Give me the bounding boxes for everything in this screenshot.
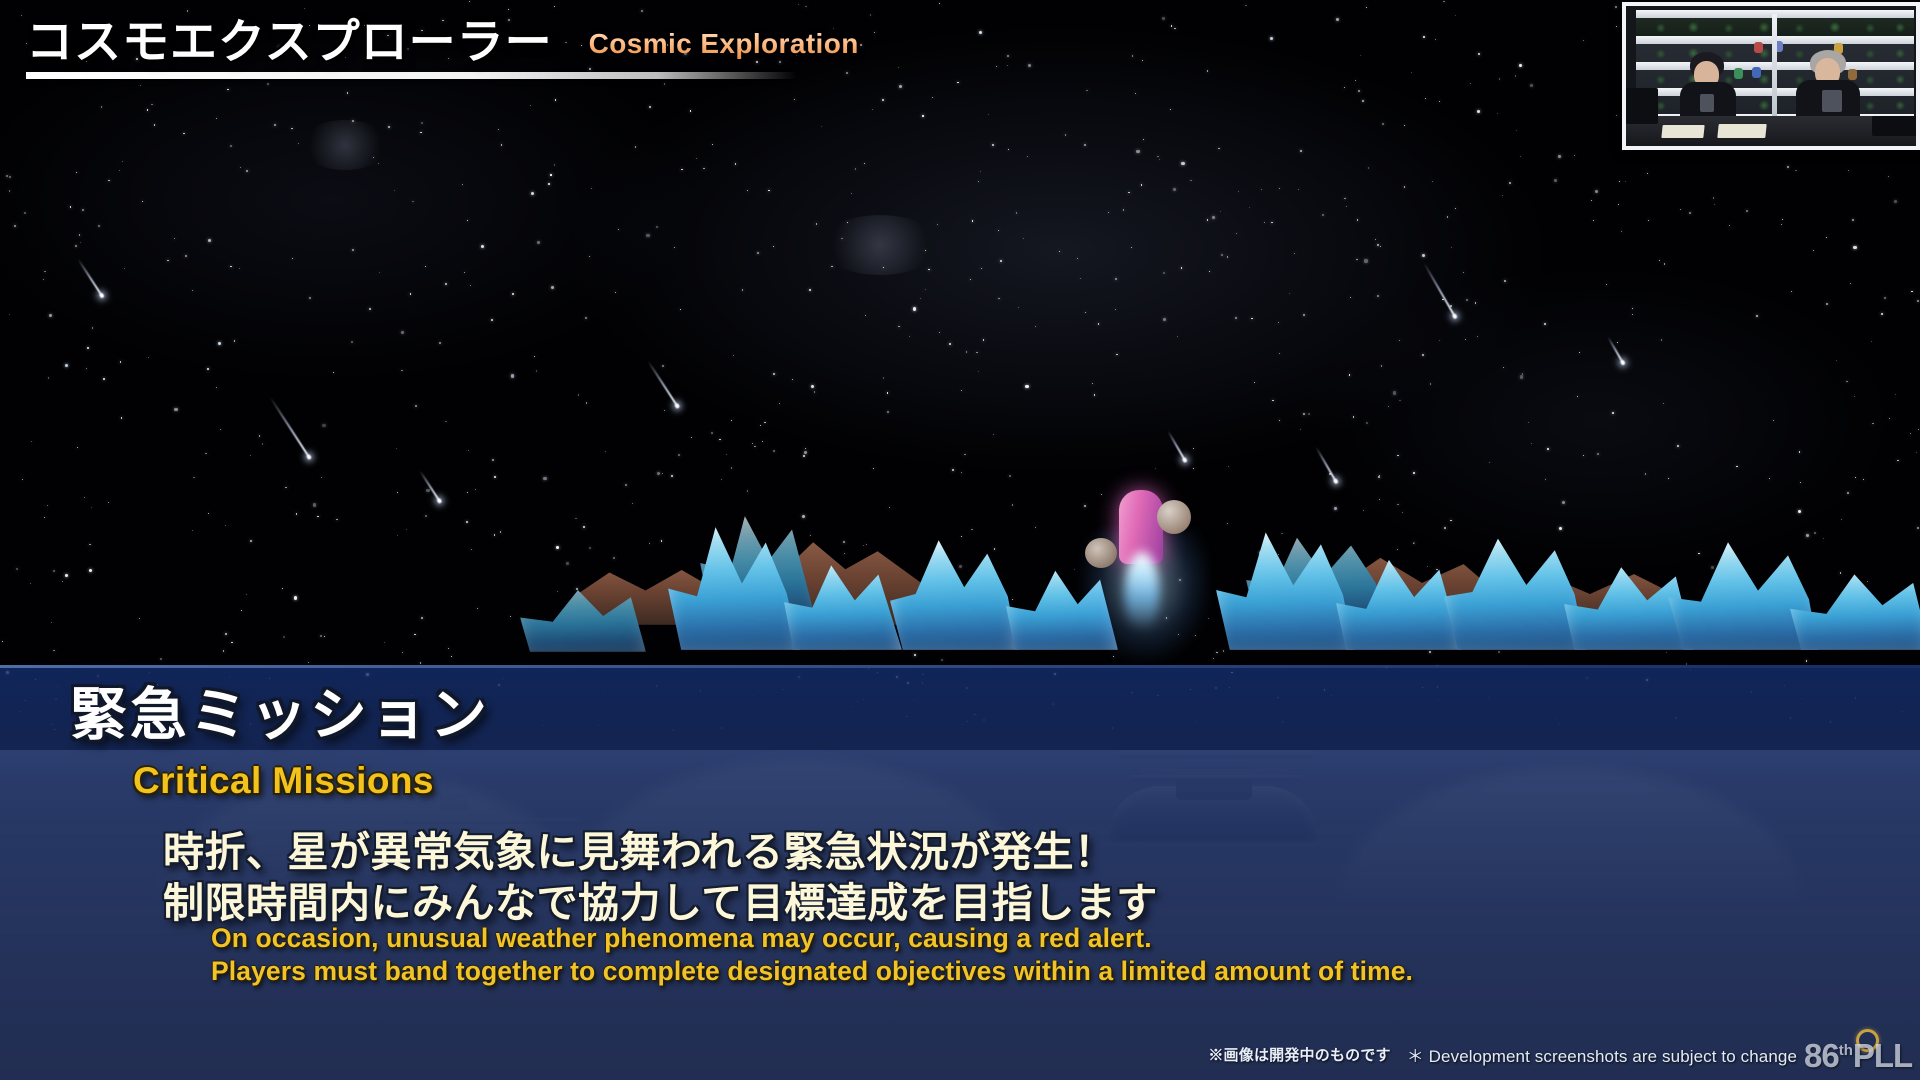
star <box>922 115 923 116</box>
star <box>1251 318 1252 319</box>
star <box>1086 90 1087 91</box>
star <box>1378 476 1380 478</box>
star <box>1554 179 1557 182</box>
star <box>1035 326 1036 327</box>
star <box>1300 150 1302 152</box>
star <box>678 454 680 456</box>
star <box>151 104 152 105</box>
star <box>511 374 514 377</box>
disclaimer-en: ＊ Development screenshots are subject to… <box>1407 1042 1797 1067</box>
star <box>993 434 994 435</box>
star <box>1616 26 1617 27</box>
star <box>347 92 348 93</box>
star <box>887 411 889 413</box>
star <box>1489 462 1490 463</box>
star <box>898 67 899 68</box>
star <box>1499 78 1500 79</box>
star <box>898 326 899 327</box>
star <box>121 417 122 418</box>
star <box>1143 139 1144 140</box>
star <box>1393 391 1396 394</box>
star <box>1375 239 1376 240</box>
star <box>412 201 413 202</box>
star <box>1531 443 1532 444</box>
star <box>1451 247 1452 248</box>
star <box>1181 162 1184 165</box>
star <box>1502 195 1503 196</box>
star <box>731 467 732 468</box>
star <box>773 373 775 375</box>
star <box>805 6 806 7</box>
star <box>470 285 471 286</box>
star <box>1181 267 1182 268</box>
star <box>1344 87 1345 88</box>
rocket-pod <box>1085 538 1117 568</box>
info-banner: 緊急ミッション Critical Missions 時折、星が異常気象に見舞われ… <box>0 665 1920 1080</box>
star <box>1008 149 1009 150</box>
star <box>193 477 194 478</box>
star <box>425 266 426 267</box>
star <box>87 347 89 349</box>
star <box>317 516 318 517</box>
star <box>662 365 664 367</box>
star <box>1007 55 1009 57</box>
star <box>1509 182 1511 184</box>
star <box>646 234 649 237</box>
star <box>762 441 763 442</box>
star <box>6 175 8 177</box>
star <box>681 169 682 170</box>
star <box>1910 433 1911 434</box>
star <box>208 239 211 242</box>
star <box>1888 176 1889 177</box>
star <box>333 372 334 373</box>
star <box>981 268 982 269</box>
star <box>1279 188 1280 189</box>
star <box>641 10 643 12</box>
star <box>1562 501 1565 504</box>
star <box>847 222 848 223</box>
star <box>949 343 951 345</box>
star <box>31 441 32 442</box>
star <box>1298 189 1299 190</box>
star <box>747 490 748 491</box>
star <box>239 268 240 269</box>
star <box>939 3 940 4</box>
star <box>961 390 962 391</box>
body-en-line-2: Players must band together to complete d… <box>211 955 1413 988</box>
star <box>536 370 537 371</box>
star <box>1173 188 1176 191</box>
star <box>865 315 866 316</box>
star <box>498 129 499 130</box>
star <box>1863 479 1864 480</box>
star <box>1577 396 1578 397</box>
star <box>1826 237 1827 238</box>
star <box>1595 190 1598 193</box>
star <box>1261 189 1262 190</box>
star <box>285 487 286 488</box>
paper-sheet <box>1661 125 1704 138</box>
star <box>388 126 390 128</box>
star <box>379 272 380 273</box>
star <box>321 477 322 478</box>
star <box>555 99 556 100</box>
star <box>469 1 470 2</box>
star <box>887 392 888 393</box>
star <box>76 172 77 173</box>
star <box>1621 231 1622 232</box>
star <box>240 167 241 168</box>
star <box>578 394 579 395</box>
star <box>439 342 441 344</box>
star <box>1463 272 1464 273</box>
star <box>1000 260 1002 262</box>
star <box>1362 100 1364 102</box>
star <box>49 314 52 317</box>
star <box>656 226 658 228</box>
star <box>1432 181 1433 182</box>
star <box>883 267 884 268</box>
star <box>733 355 734 356</box>
star <box>909 336 910 337</box>
star <box>1300 429 1301 430</box>
star <box>227 89 228 90</box>
star <box>481 245 484 248</box>
star <box>119 170 120 171</box>
star <box>864 163 865 164</box>
star <box>1207 70 1208 71</box>
star <box>649 106 651 108</box>
star <box>1193 448 1194 449</box>
star <box>1516 130 1517 131</box>
shelf-divider <box>1772 14 1777 130</box>
star <box>1023 238 1024 239</box>
star <box>575 518 576 519</box>
star <box>1128 192 1129 193</box>
star <box>1447 216 1448 217</box>
star <box>1781 224 1782 225</box>
star <box>1027 156 1028 157</box>
star <box>882 99 884 101</box>
star <box>696 158 697 159</box>
star <box>1350 297 1351 298</box>
star <box>752 443 753 444</box>
pll-ordinal: th <box>1839 1042 1853 1059</box>
star <box>1729 225 1730 226</box>
star <box>719 439 720 440</box>
star <box>1028 64 1031 67</box>
slide-title-block: コスモエクスプローラー Cosmic Exploration <box>26 18 859 79</box>
star <box>1344 198 1345 199</box>
star <box>501 144 502 145</box>
star <box>47 505 48 506</box>
star <box>1115 309 1116 310</box>
star <box>1227 256 1228 257</box>
star <box>1136 150 1139 153</box>
star <box>1236 233 1237 234</box>
star <box>1163 318 1166 321</box>
star <box>1157 156 1158 157</box>
star <box>44 271 45 272</box>
star <box>1422 254 1425 257</box>
star <box>1617 342 1618 343</box>
star <box>1018 307 1019 308</box>
star <box>1308 413 1310 415</box>
star <box>1171 25 1172 26</box>
star <box>1916 452 1917 453</box>
star <box>1065 134 1066 135</box>
star <box>691 437 692 438</box>
star <box>1616 115 1617 116</box>
star <box>1846 381 1847 382</box>
star <box>1162 17 1165 20</box>
star <box>1475 302 1476 303</box>
star <box>1455 15 1456 16</box>
star <box>1402 512 1403 513</box>
star <box>1174 28 1175 29</box>
star <box>1497 113 1498 114</box>
star <box>1025 385 1028 388</box>
star <box>1799 451 1800 452</box>
star <box>1547 448 1549 450</box>
star <box>1714 204 1715 205</box>
shirt-print <box>1822 90 1842 112</box>
star <box>108 502 109 503</box>
star <box>1787 166 1789 168</box>
star <box>1884 297 1886 299</box>
star <box>970 279 971 280</box>
star <box>1177 336 1178 337</box>
star <box>1769 478 1770 479</box>
star <box>259 435 260 436</box>
star <box>1080 278 1081 279</box>
star <box>703 168 704 169</box>
star <box>1380 246 1381 247</box>
star <box>957 82 958 83</box>
star <box>394 190 395 191</box>
star <box>401 370 402 371</box>
star <box>1574 155 1575 156</box>
star <box>415 405 417 407</box>
star <box>1713 197 1714 198</box>
star <box>218 342 221 345</box>
star <box>1228 466 1229 467</box>
star <box>1397 455 1398 456</box>
star <box>773 246 774 247</box>
star <box>664 410 665 411</box>
star <box>764 422 765 423</box>
star <box>1756 315 1757 316</box>
star <box>1520 375 1523 378</box>
star <box>920 298 921 299</box>
star <box>1645 473 1646 474</box>
star <box>792 379 793 380</box>
star <box>230 145 232 147</box>
star <box>1813 250 1814 251</box>
star <box>1377 295 1379 297</box>
star <box>690 110 691 111</box>
star <box>1423 36 1425 38</box>
star <box>1404 125 1405 126</box>
star <box>420 132 421 133</box>
star <box>803 455 805 457</box>
star <box>657 472 660 475</box>
star <box>932 97 933 98</box>
star <box>851 193 852 194</box>
star <box>1791 291 1792 292</box>
star <box>82 209 84 211</box>
star <box>1895 394 1896 395</box>
star <box>313 503 316 506</box>
star <box>1271 222 1272 223</box>
star <box>274 124 275 125</box>
star <box>1404 186 1405 187</box>
star <box>680 309 681 310</box>
star <box>671 475 673 477</box>
star <box>1254 382 1255 383</box>
star <box>1303 413 1304 414</box>
star <box>1334 507 1337 510</box>
star <box>250 455 251 456</box>
star <box>585 317 586 318</box>
star <box>731 420 732 421</box>
star <box>1016 212 1017 213</box>
star <box>872 109 873 110</box>
star <box>1399 400 1400 401</box>
star <box>805 448 806 449</box>
figurine <box>1754 42 1763 53</box>
star <box>543 477 546 480</box>
star <box>980 171 981 172</box>
star <box>1108 212 1109 213</box>
ice-crystal <box>1668 540 1818 650</box>
star <box>1381 365 1382 366</box>
monitor <box>1626 88 1658 124</box>
star <box>779 403 780 404</box>
star <box>712 144 713 145</box>
star <box>1583 455 1584 456</box>
star <box>167 260 168 261</box>
star <box>1092 383 1093 384</box>
star <box>1661 339 1662 340</box>
star <box>802 515 805 518</box>
star <box>9 176 11 178</box>
star <box>1773 420 1774 421</box>
star <box>65 364 68 367</box>
star <box>1085 312 1086 313</box>
star <box>1528 422 1529 423</box>
star <box>531 192 534 195</box>
star <box>1618 204 1619 205</box>
star <box>1911 291 1912 292</box>
star <box>1379 499 1380 500</box>
star <box>889 507 890 508</box>
star <box>1279 420 1280 421</box>
star <box>804 451 807 454</box>
star <box>86 368 87 369</box>
star <box>913 307 916 310</box>
star <box>1836 360 1837 361</box>
star <box>309 297 311 299</box>
star <box>120 361 121 362</box>
star <box>1439 340 1440 341</box>
star <box>1270 37 1273 40</box>
star <box>352 120 354 122</box>
star <box>1854 396 1855 397</box>
star <box>1425 98 1426 99</box>
star <box>1659 260 1660 261</box>
star <box>925 289 926 290</box>
pll-number: 86 <box>1804 1037 1839 1074</box>
laptop <box>1872 116 1918 136</box>
star <box>43 279 44 280</box>
star <box>445 283 447 285</box>
star <box>1303 314 1305 316</box>
disclaimer-jp: ※画像は開発中のものです <box>1208 1044 1390 1065</box>
star <box>147 109 148 110</box>
star <box>721 479 722 480</box>
star <box>1094 394 1095 395</box>
star <box>1159 159 1160 160</box>
star <box>468 450 469 451</box>
star <box>754 446 755 447</box>
star <box>267 83 269 85</box>
star <box>1477 336 1478 337</box>
star <box>1009 475 1011 477</box>
star <box>798 4 799 5</box>
webcam-pip[interactable] <box>1622 2 1920 150</box>
star <box>554 6 555 7</box>
star <box>534 356 535 357</box>
star <box>1084 144 1086 146</box>
star <box>22 479 23 480</box>
star <box>1746 210 1748 212</box>
star <box>1593 220 1594 221</box>
star <box>939 332 940 333</box>
star <box>816 223 817 224</box>
star <box>1736 466 1737 467</box>
star <box>1680 209 1681 210</box>
star <box>711 432 713 434</box>
star <box>1399 340 1400 341</box>
star <box>322 424 325 427</box>
star <box>1503 367 1504 368</box>
star <box>586 402 587 403</box>
star <box>1155 468 1156 469</box>
star <box>1218 148 1219 149</box>
star <box>1245 5 1246 6</box>
banner-top-edge <box>0 665 1920 668</box>
star <box>44 517 45 518</box>
star <box>1591 200 1592 201</box>
star <box>1238 191 1239 192</box>
star <box>1220 211 1221 212</box>
star <box>262 443 263 444</box>
star <box>98 225 100 227</box>
star <box>14 225 15 226</box>
star <box>124 268 125 269</box>
star <box>870 14 871 15</box>
star <box>809 289 811 291</box>
star <box>401 331 404 334</box>
star <box>591 188 592 189</box>
star <box>508 9 509 10</box>
body-jp-line-1: 時折、星が異常気象に見舞われる緊急状況が発生！ <box>163 827 1158 878</box>
star <box>220 429 221 430</box>
star <box>494 476 496 478</box>
star <box>296 513 297 514</box>
